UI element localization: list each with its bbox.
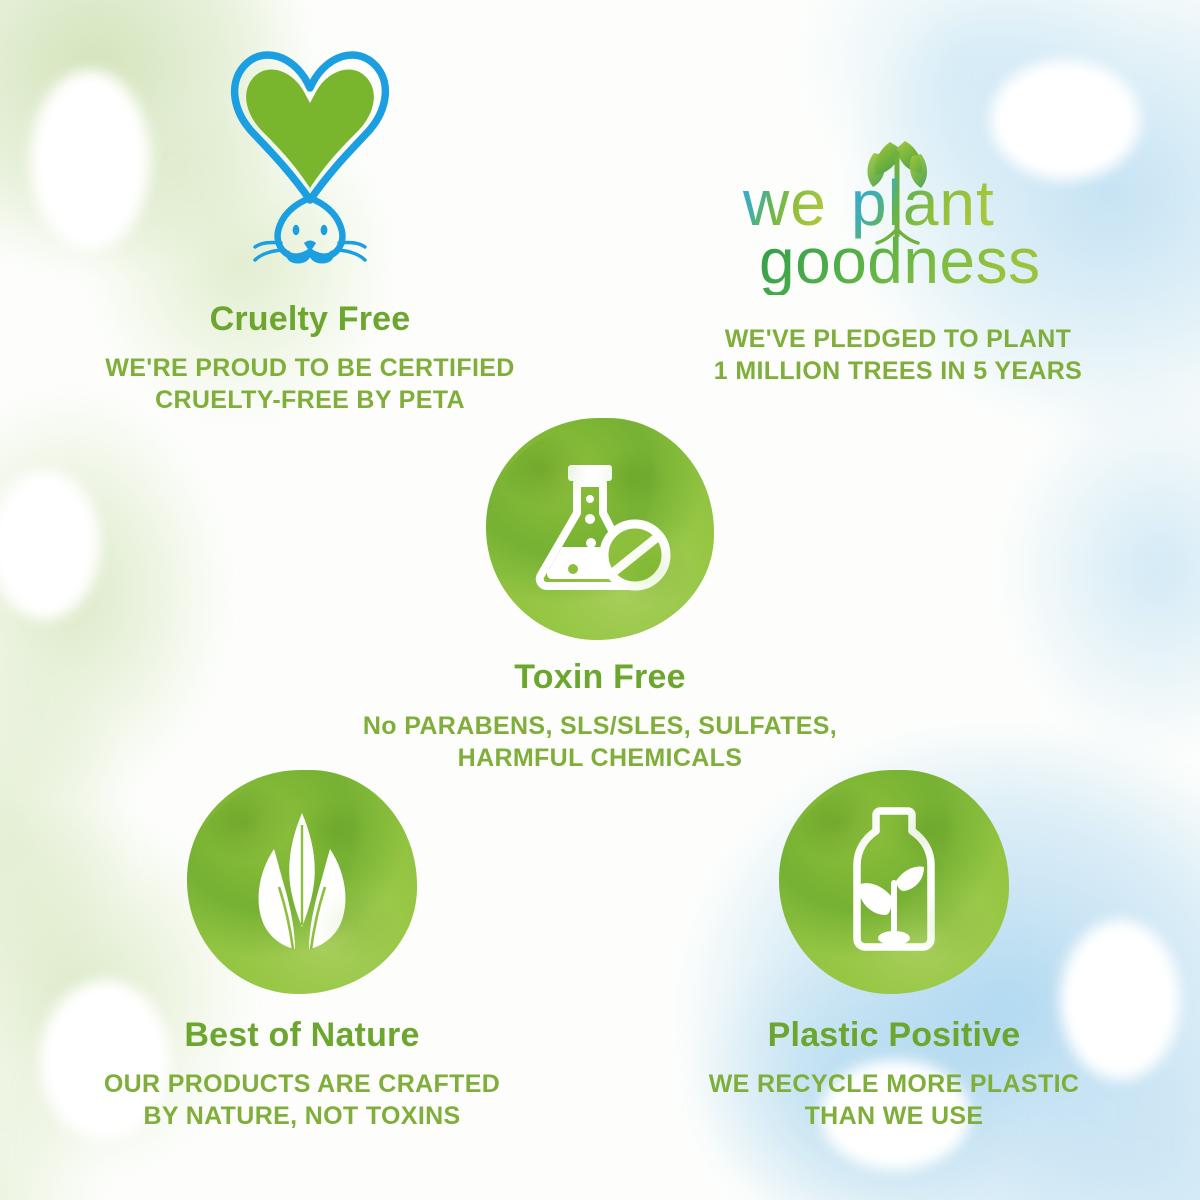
- whisker: [255, 250, 281, 260]
- peta-bunny-heart-logo: [30, 40, 590, 290]
- badge-best-of-nature: Best of Nature OUR PRODUCTS ARE CRAFTED …: [22, 770, 582, 1132]
- badge-subtitle: OUR PRODUCTS ARE CRAFTED BY NATURE, NOT …: [22, 1069, 582, 1132]
- paper-highlight: [0, 470, 100, 620]
- badge-cruelty-free: Cruelty Free WE'RE PROUD TO BE CERTIFIED…: [30, 40, 590, 416]
- badge-title: Best of Nature: [22, 1016, 582, 1055]
- badge-subtitle: No PARABENS, SLS/SLES, SULFATES, HARMFUL…: [320, 711, 880, 774]
- peta-bunny-heart-icon: [215, 40, 405, 275]
- we-plant-goodness-logo: we plant goodness: [618, 125, 1178, 300]
- toxin-free-disc: [486, 418, 714, 640]
- badge-title: Plastic Positive: [614, 1016, 1174, 1055]
- badge-title: Toxin Free: [320, 658, 880, 697]
- badge-subtitle-line: No PARABENS, SLS/SLES, SULFATES,: [320, 711, 880, 743]
- flask-bubble: [586, 538, 596, 548]
- badge-toxin-free: Toxin Free No PARABENS, SLS/SLES, SULFAT…: [320, 418, 880, 774]
- sprout-base: [878, 931, 910, 945]
- best-of-nature-disc: [187, 770, 417, 994]
- badge-we-plant-goodness: we plant goodness WE'VE PLEDGED TO PLANT…: [618, 125, 1178, 387]
- badge-subtitle-line-text: No PARABENS, SLS/SLES, SULFATES,: [363, 712, 837, 740]
- sprout-leaf-right: [896, 867, 924, 891]
- badge-subtitle: WE'VE PLEDGED TO PLANT 1 MILLION TREES I…: [618, 324, 1178, 387]
- bottle-sprout-icon: [834, 805, 954, 959]
- leaves-icon: [232, 809, 372, 955]
- badge-title: Cruelty Free: [30, 300, 590, 339]
- bunny-eye-left: [293, 225, 300, 235]
- badge-subtitle: WE RECYCLE MORE PLASTIC THAN WE USE: [614, 1069, 1174, 1132]
- flask-bubble: [586, 495, 594, 503]
- logo-word-goodness: goodness: [759, 225, 1041, 295]
- badge-subtitle-line: BY NATURE, NOT TOXINS: [22, 1101, 582, 1133]
- flask-bubble: [585, 514, 595, 524]
- badge-subtitle-line: THAN WE USE: [614, 1101, 1174, 1133]
- sprout-leaf-left: [858, 883, 892, 915]
- bunny-eye-right: [321, 225, 328, 235]
- flask-no-sign-icon: [525, 459, 675, 599]
- flask-bubble: [568, 564, 578, 574]
- brand-values-infographic: Cruelty Free WE'RE PROUD TO BE CERTIFIED…: [0, 0, 1200, 1200]
- plastic-positive-disc: [779, 770, 1009, 994]
- badge-subtitle: WE'RE PROUD TO BE CERTIFIED CRUELTY-FREE…: [30, 353, 590, 416]
- badge-subtitle-line: WE'RE PROUD TO BE CERTIFIED: [30, 353, 590, 385]
- badge-subtitle-line: OUR PRODUCTS ARE CRAFTED: [22, 1069, 582, 1101]
- we-plant-goodness-wordmark-icon: we plant goodness: [733, 125, 1063, 295]
- badge-subtitle-line: WE RECYCLE MORE PLASTIC: [614, 1069, 1174, 1101]
- badge-subtitle-line: 1 MILLION TREES IN 5 YEARS: [618, 356, 1178, 388]
- badge-plastic-positive: Plastic Positive WE RECYCLE MORE PLASTIC…: [614, 770, 1174, 1132]
- badge-subtitle-line: WE'VE PLEDGED TO PLANT: [618, 324, 1178, 356]
- badge-subtitle-line: CRUELTY-FREE BY PETA: [30, 385, 590, 417]
- flask-collar: [568, 465, 612, 481]
- whisker: [339, 250, 365, 260]
